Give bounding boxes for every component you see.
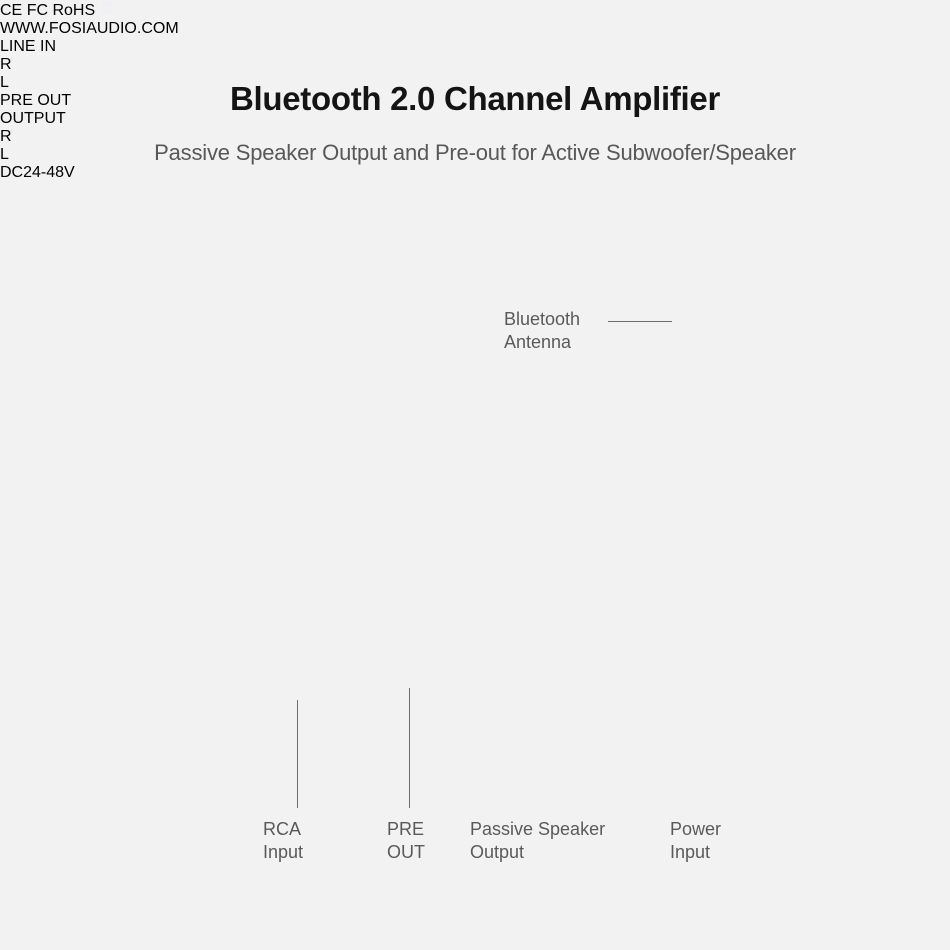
callout-bluetooth-antenna: Bluetooth Antenna (504, 308, 580, 354)
crossed-out-wheelie-bin-icon (100, 2, 114, 19)
leader-line-pre-out (409, 688, 410, 808)
fcc-mark: FC (27, 2, 48, 19)
rohs-mark: RoHS (52, 2, 95, 19)
page-title: Bluetooth 2.0 Channel Amplifier (0, 80, 950, 118)
page-subtitle: Passive Speaker Output and Pre-out for A… (0, 140, 950, 166)
brand-website: WWW.FOSIAUDIO.COM (0, 20, 950, 38)
certification-marks: CE FC RoHS WWW.FOSIAUDIO.COM (0, 0, 950, 38)
dc-power-label: DC24-48V (0, 164, 950, 182)
callout-power-input: Power Input (670, 818, 721, 864)
line-in-group-label: LINE IN (0, 38, 950, 56)
callout-passive-speaker-output: Passive Speaker Output (470, 818, 605, 864)
ce-mark: CE (0, 2, 22, 19)
rca-right-channel-label: R (0, 56, 950, 74)
callout-pre-out: PRE OUT (387, 818, 425, 864)
leader-line-rca-input (297, 700, 298, 808)
callout-rca-input: RCA Input (263, 818, 303, 864)
leader-line-bluetooth-antenna (608, 321, 672, 322)
infographic-canvas: Bluetooth 2.0 Channel Amplifier Passive … (0, 0, 950, 950)
